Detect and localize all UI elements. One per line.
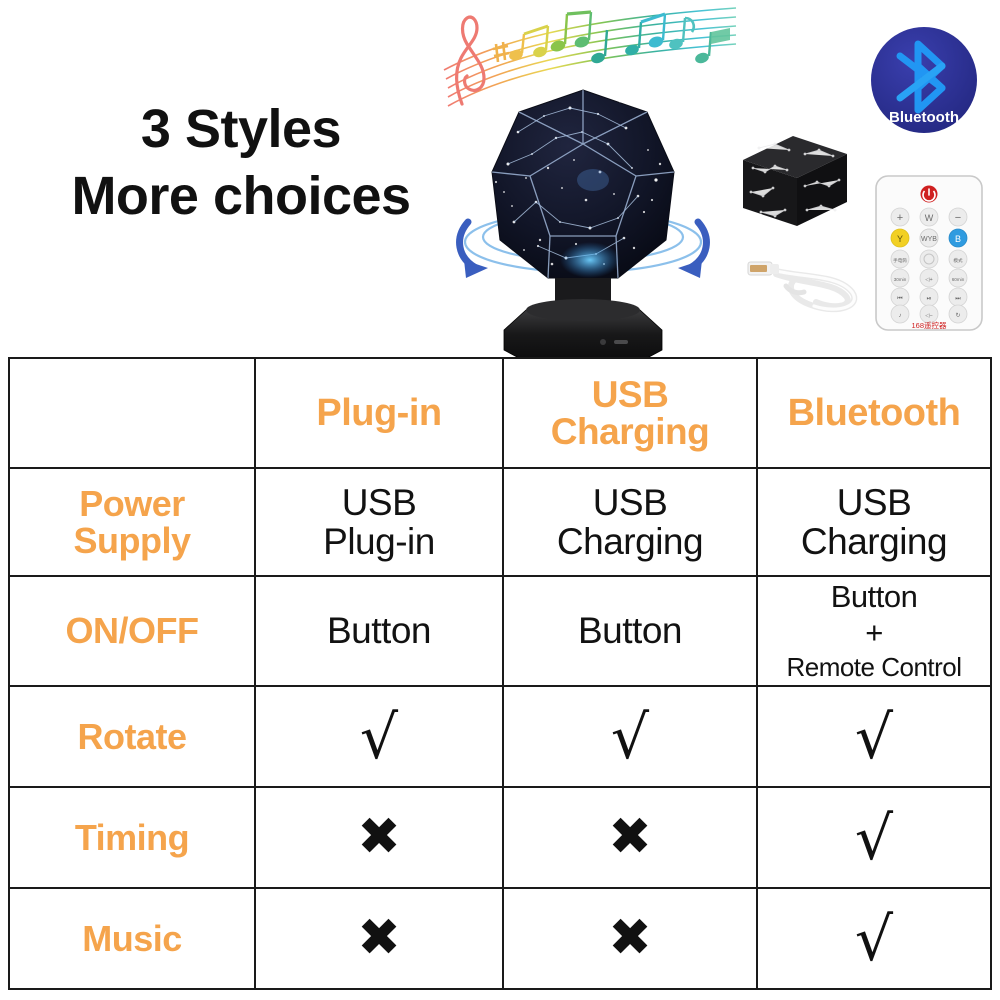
- svg-text:−: −: [955, 212, 961, 224]
- row-label-power-supply: Power Supply: [9, 468, 255, 575]
- cell-music-usb: ✖: [503, 888, 757, 989]
- header-label-usb-line1: USB: [592, 374, 669, 415]
- hero-section: 3 Styles More choices: [0, 0, 1000, 357]
- svg-text:◁−: ◁−: [925, 313, 932, 319]
- svg-text:手电筒: 手电筒: [893, 257, 907, 264]
- header-cell-usb-charging: USB Charging: [503, 358, 757, 468]
- cross-mark-icon: ✖: [357, 811, 401, 863]
- cross-mark-icon: ✖: [608, 912, 652, 964]
- cell-timing-bluetooth: √: [757, 787, 991, 888]
- svg-text:⏯: ⏯: [927, 296, 932, 302]
- cell-music-bluetooth: √: [757, 888, 991, 989]
- headline-line-2: More choices: [46, 169, 436, 224]
- row-label-line1: Power: [79, 483, 185, 524]
- bluetooth-badge-label: Bluetooth: [889, 109, 959, 126]
- product-comparison-infographic: 3 Styles More choices: [0, 0, 1000, 1000]
- check-mark-icon: √: [855, 809, 893, 869]
- svg-text:W: W: [925, 213, 934, 223]
- cell-line2: +: [865, 615, 883, 650]
- row-label-rotate: Rotate: [9, 686, 255, 787]
- headline-line-1: 3 Styles: [46, 102, 436, 157]
- cell-onoff-usb: Button: [503, 576, 757, 686]
- header-label-usb-line2: Charging: [551, 411, 709, 452]
- cell-rotate-bluetooth: √: [757, 686, 991, 787]
- cell-timing-usb: ✖: [503, 787, 757, 888]
- remote-control-icon[interactable]: + W − Y WYB B 手电筒 模式 30min ◁+ 60min ⏮ ⏯ …: [874, 174, 984, 332]
- usb-cable-icon: [742, 248, 872, 326]
- header-label-plugin: Plug-in: [256, 394, 502, 432]
- table-header-row: Plug-in USB Charging Bluetooth: [9, 358, 991, 468]
- check-mark-icon: √: [855, 708, 893, 768]
- check-mark-icon: √: [611, 708, 649, 768]
- header-cell-plugin: Plug-in: [255, 358, 503, 468]
- cell-line2: Charging: [801, 521, 947, 562]
- row-label-music: Music: [9, 888, 255, 989]
- svg-text:⏮: ⏮: [897, 296, 903, 302]
- table-row-onoff: ON/OFF Button Button Button + Remote Con…: [9, 576, 991, 686]
- bluetooth-badge-icon: Bluetooth: [866, 22, 982, 138]
- cell-rotate-usb: √: [503, 686, 757, 787]
- cell-power-plugin: USB Plug-in: [255, 468, 503, 575]
- cell-onoff-bluetooth: Button + Remote Control: [757, 576, 991, 686]
- svg-text:+: +: [897, 212, 903, 224]
- cell-timing-plugin: ✖: [255, 787, 503, 888]
- svg-text:◁+: ◁+: [925, 277, 932, 283]
- remote-model-label: 168遥控器: [911, 320, 947, 330]
- table-row-timing: Timing ✖ ✖ √: [9, 787, 991, 888]
- svg-text:Y: Y: [897, 234, 903, 244]
- svg-text:模式: 模式: [953, 257, 963, 264]
- check-mark-icon: √: [855, 910, 893, 970]
- constellation-gift-box-icon: [735, 126, 855, 236]
- header-cell-empty: [9, 358, 255, 468]
- cell-power-usb: USB Charging: [503, 468, 757, 575]
- row-label-timing: Timing: [9, 787, 255, 888]
- row-label-onoff: ON/OFF: [9, 576, 255, 686]
- cross-mark-icon: ✖: [357, 912, 401, 964]
- header-cell-bluetooth: Bluetooth: [757, 358, 991, 468]
- cross-mark-icon: ✖: [608, 811, 652, 863]
- svg-text:⏭: ⏭: [955, 296, 961, 302]
- check-mark-icon: √: [360, 708, 398, 768]
- table-row-music: Music ✖ ✖ √: [9, 888, 991, 989]
- star-projector-lamp-icon: [448, 72, 718, 357]
- table-row-rotate: Rotate √ √ √: [9, 686, 991, 787]
- cell-line2: Charging: [557, 521, 703, 562]
- svg-text:WYB: WYB: [921, 236, 937, 243]
- row-label-line2: Supply: [73, 520, 190, 561]
- cell-music-plugin: ✖: [255, 888, 503, 989]
- cell-rotate-plugin: √: [255, 686, 503, 787]
- svg-text:60min: 60min: [952, 277, 965, 282]
- cell-line1: USB: [837, 482, 912, 523]
- spec-comparison-table: Plug-in USB Charging Bluetooth Power Sup: [8, 357, 992, 990]
- cell-onoff-plugin: Button: [255, 576, 503, 686]
- page-title: 3 Styles More choices: [46, 102, 436, 224]
- header-label-bluetooth: Bluetooth: [758, 394, 990, 432]
- cell-line1: USB: [593, 482, 668, 523]
- cell-line2: Plug-in: [323, 521, 435, 562]
- cell-line1: Button: [831, 579, 918, 614]
- svg-text:↻: ↻: [955, 312, 960, 319]
- cell-line3: Remote Control: [786, 652, 961, 682]
- svg-text:30min: 30min: [894, 277, 907, 282]
- cell-power-bluetooth: USB Charging: [757, 468, 991, 575]
- table-row-power-supply: Power Supply USB Plug-in USB Charging: [9, 468, 991, 575]
- svg-text:♪: ♪: [899, 313, 902, 319]
- cell-line1: USB: [342, 482, 417, 523]
- svg-text:B: B: [955, 234, 961, 244]
